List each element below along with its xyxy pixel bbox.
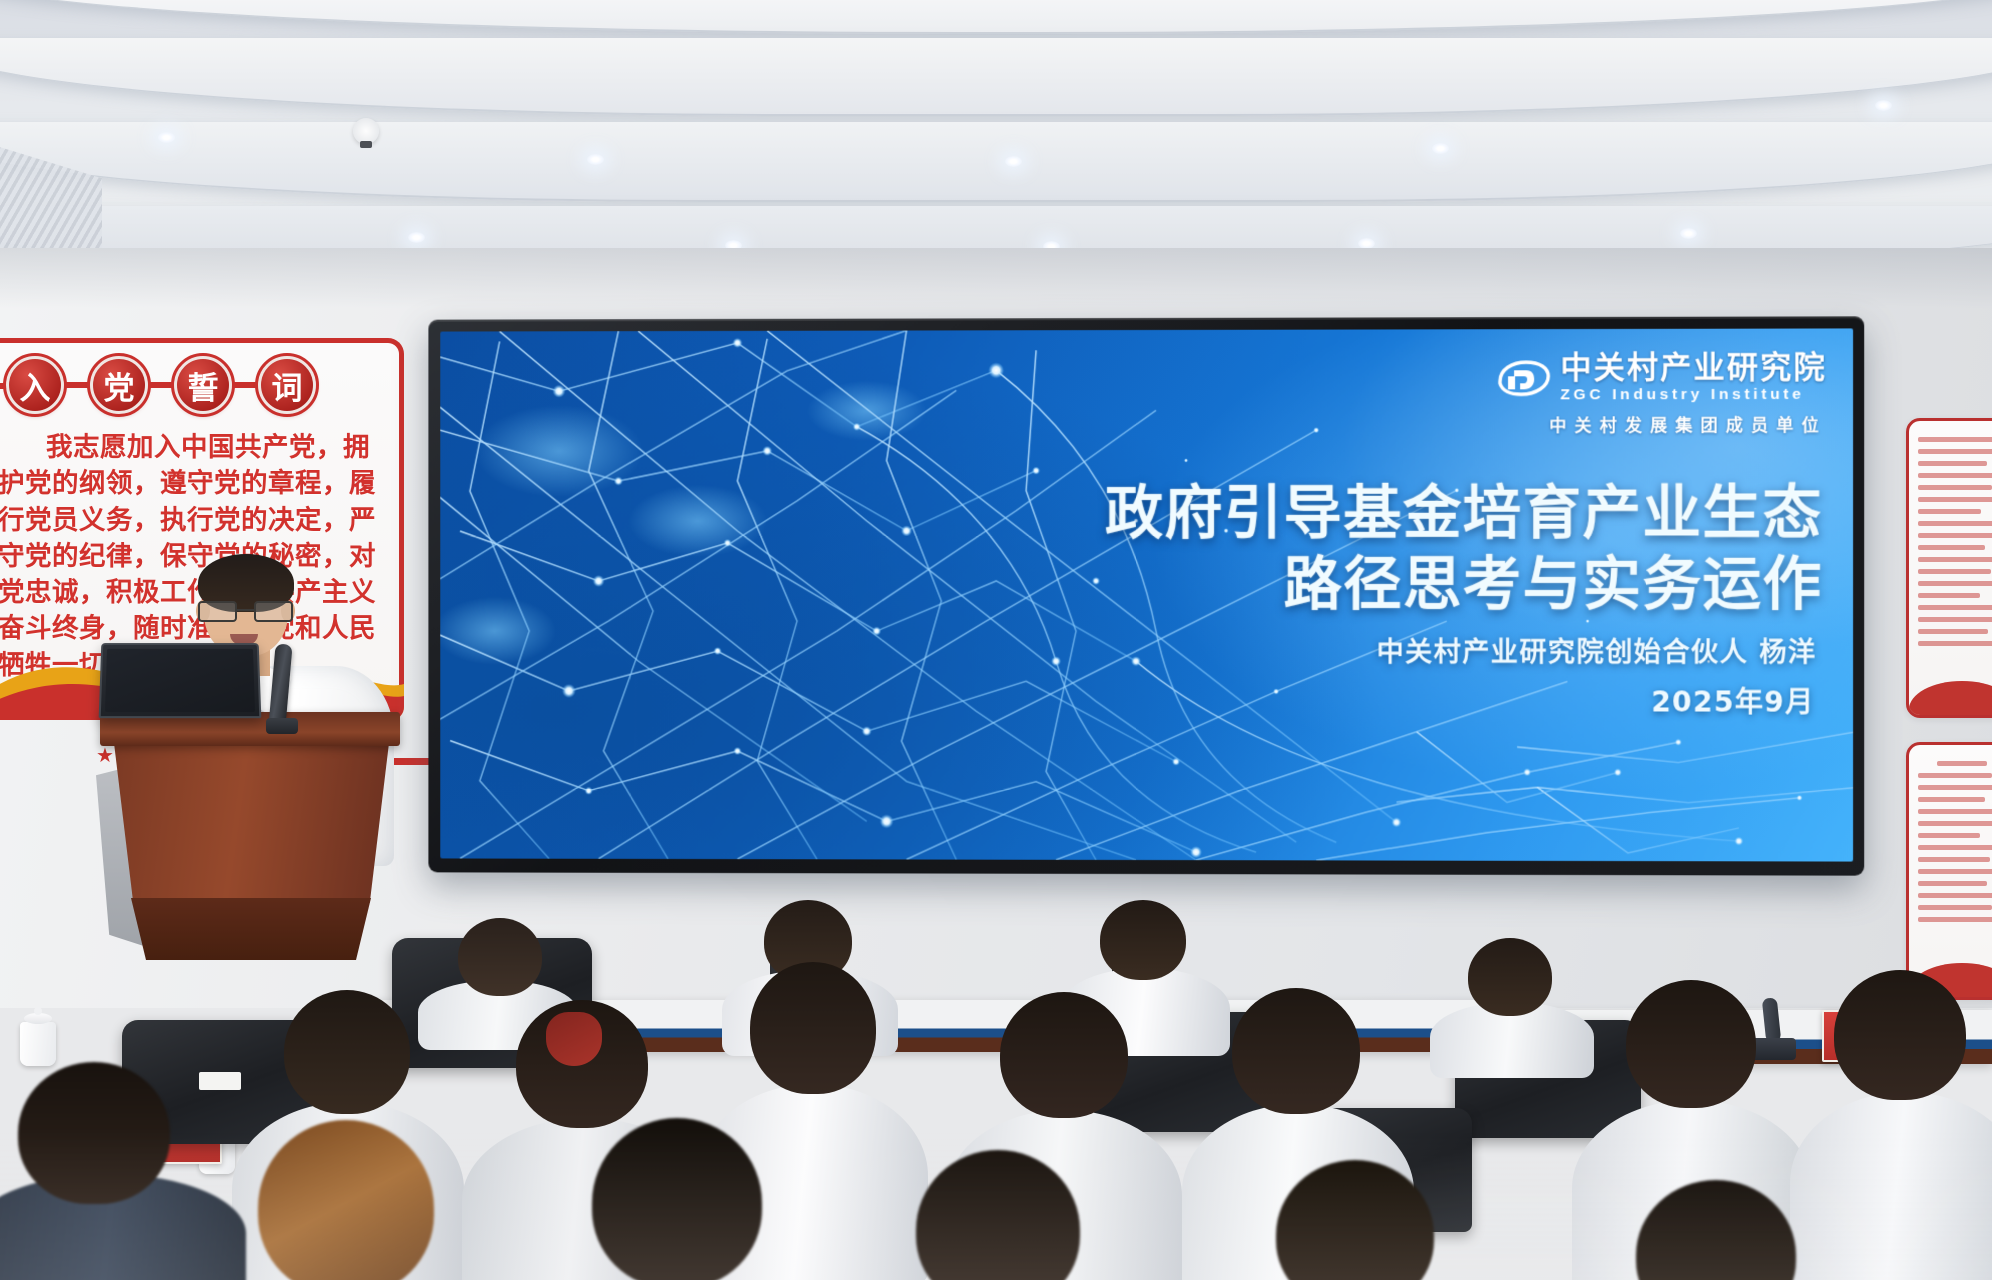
right-wall-poster-upper	[1906, 418, 1992, 718]
ceiling-coffer-2	[0, 38, 1992, 116]
logo-name-en: ZGC Industry Institute	[1560, 385, 1826, 404]
person-head	[1000, 992, 1128, 1118]
oath-poster-title: 入 党 誓 词	[6, 356, 316, 414]
ceiling	[0, 0, 1992, 262]
slide-presenter: 中关村产业研究院创始合伙人 杨洋	[1377, 630, 1817, 669]
slide-title-line-1: 政府引导基金培育产业生态	[1105, 477, 1823, 548]
person-head	[18, 1062, 170, 1204]
podium-front	[114, 743, 389, 903]
person-head	[1626, 980, 1756, 1108]
wall-top-shadow	[0, 248, 1992, 308]
ceiling-downlight	[1005, 156, 1022, 167]
person-head	[458, 918, 542, 996]
slide-logo: 中关村产业研究院 ZGC Industry Institute 中关村发展集团成…	[1496, 353, 1827, 437]
eyeglasses-icon	[198, 601, 296, 624]
ceiling-coffer-3	[0, 122, 1992, 202]
audience-member	[1430, 938, 1594, 1068]
presentation-display[interactable]: 中关村产业研究院 ZGC Industry Institute 中关村发展集团成…	[428, 316, 1864, 875]
oath-title-char: 词	[258, 356, 316, 414]
audience-member-foreground	[552, 1118, 818, 1280]
oath-title-char: 党	[90, 356, 148, 414]
audience-member-foreground	[872, 1150, 1132, 1280]
person-head	[1468, 938, 1552, 1016]
slide-title-line-2: 路径思考与实务运作	[1105, 548, 1823, 619]
logo-name-cn: 中关村产业研究院	[1560, 353, 1826, 385]
person-head	[592, 1118, 762, 1280]
person-head	[1100, 900, 1186, 980]
person-head	[750, 962, 876, 1094]
person-head	[1232, 988, 1360, 1114]
person-head	[284, 990, 410, 1114]
ceiling-downlight	[587, 154, 604, 165]
person-head	[916, 1150, 1080, 1280]
ceiling-coffer-1	[0, 0, 1992, 34]
glasses-bridge	[237, 609, 254, 611]
slide-canvas: 中关村产业研究院 ZGC Industry Institute 中关村发展集团成…	[440, 328, 1853, 861]
ceiling-downlight	[1875, 100, 1892, 111]
ceiling-downlight	[1680, 228, 1697, 239]
person-head	[258, 1120, 434, 1280]
smoke-detector-icon	[353, 118, 379, 144]
slide-title: 政府引导基金培育产业生态 路径思考与实务运作	[1105, 477, 1823, 619]
oath-title-char: 誓	[174, 356, 232, 414]
ceiling-downlight	[408, 232, 425, 243]
conference-room-scene: 入 党 誓 词 我志愿加入中国共产党，拥护党的纲领，遵守党的章程，履行党员义务，…	[0, 0, 1992, 1280]
logo-row: 中关村产业研究院 ZGC Industry Institute	[1496, 353, 1827, 405]
poster-text-lines	[1909, 421, 1992, 646]
lens-left	[198, 601, 237, 622]
ceiling-downlight	[158, 132, 175, 143]
audience-member-foreground	[1236, 1160, 1486, 1280]
poster-text-lines	[1909, 745, 1992, 922]
slide-date: 2025年9月	[1651, 680, 1814, 720]
podium-base	[126, 898, 376, 960]
laptop[interactable]	[99, 643, 262, 718]
person-head	[1276, 1160, 1434, 1280]
oath-title-rule	[64, 382, 90, 388]
laptop-screen	[105, 649, 255, 712]
oath-title-rule	[148, 382, 174, 388]
podium	[100, 712, 400, 962]
hair-highlight-red	[546, 1012, 602, 1066]
teacup	[20, 1022, 56, 1066]
lens-right	[254, 601, 293, 622]
podium-microphone-base	[266, 718, 298, 734]
logo-wordmark: 中关村产业研究院 ZGC Industry Institute	[1560, 353, 1826, 405]
right-wall-poster-lower	[1906, 742, 1992, 1000]
person-head	[1834, 970, 1966, 1100]
logo-affiliation: 中关村发展集团成员单位	[1496, 411, 1827, 437]
audience-member-foreground	[212, 1120, 512, 1280]
person-head	[1636, 1180, 1796, 1280]
oath-title-char: 入	[6, 356, 64, 414]
poster-footer-graphic	[1909, 681, 1992, 715]
ceiling-downlight	[1432, 143, 1449, 154]
oath-title-rule	[232, 382, 258, 388]
audience-member-foreground	[1600, 1180, 1850, 1280]
audience-member-foreground	[0, 1062, 246, 1280]
zgc-orbital-logo-icon	[1496, 359, 1550, 399]
